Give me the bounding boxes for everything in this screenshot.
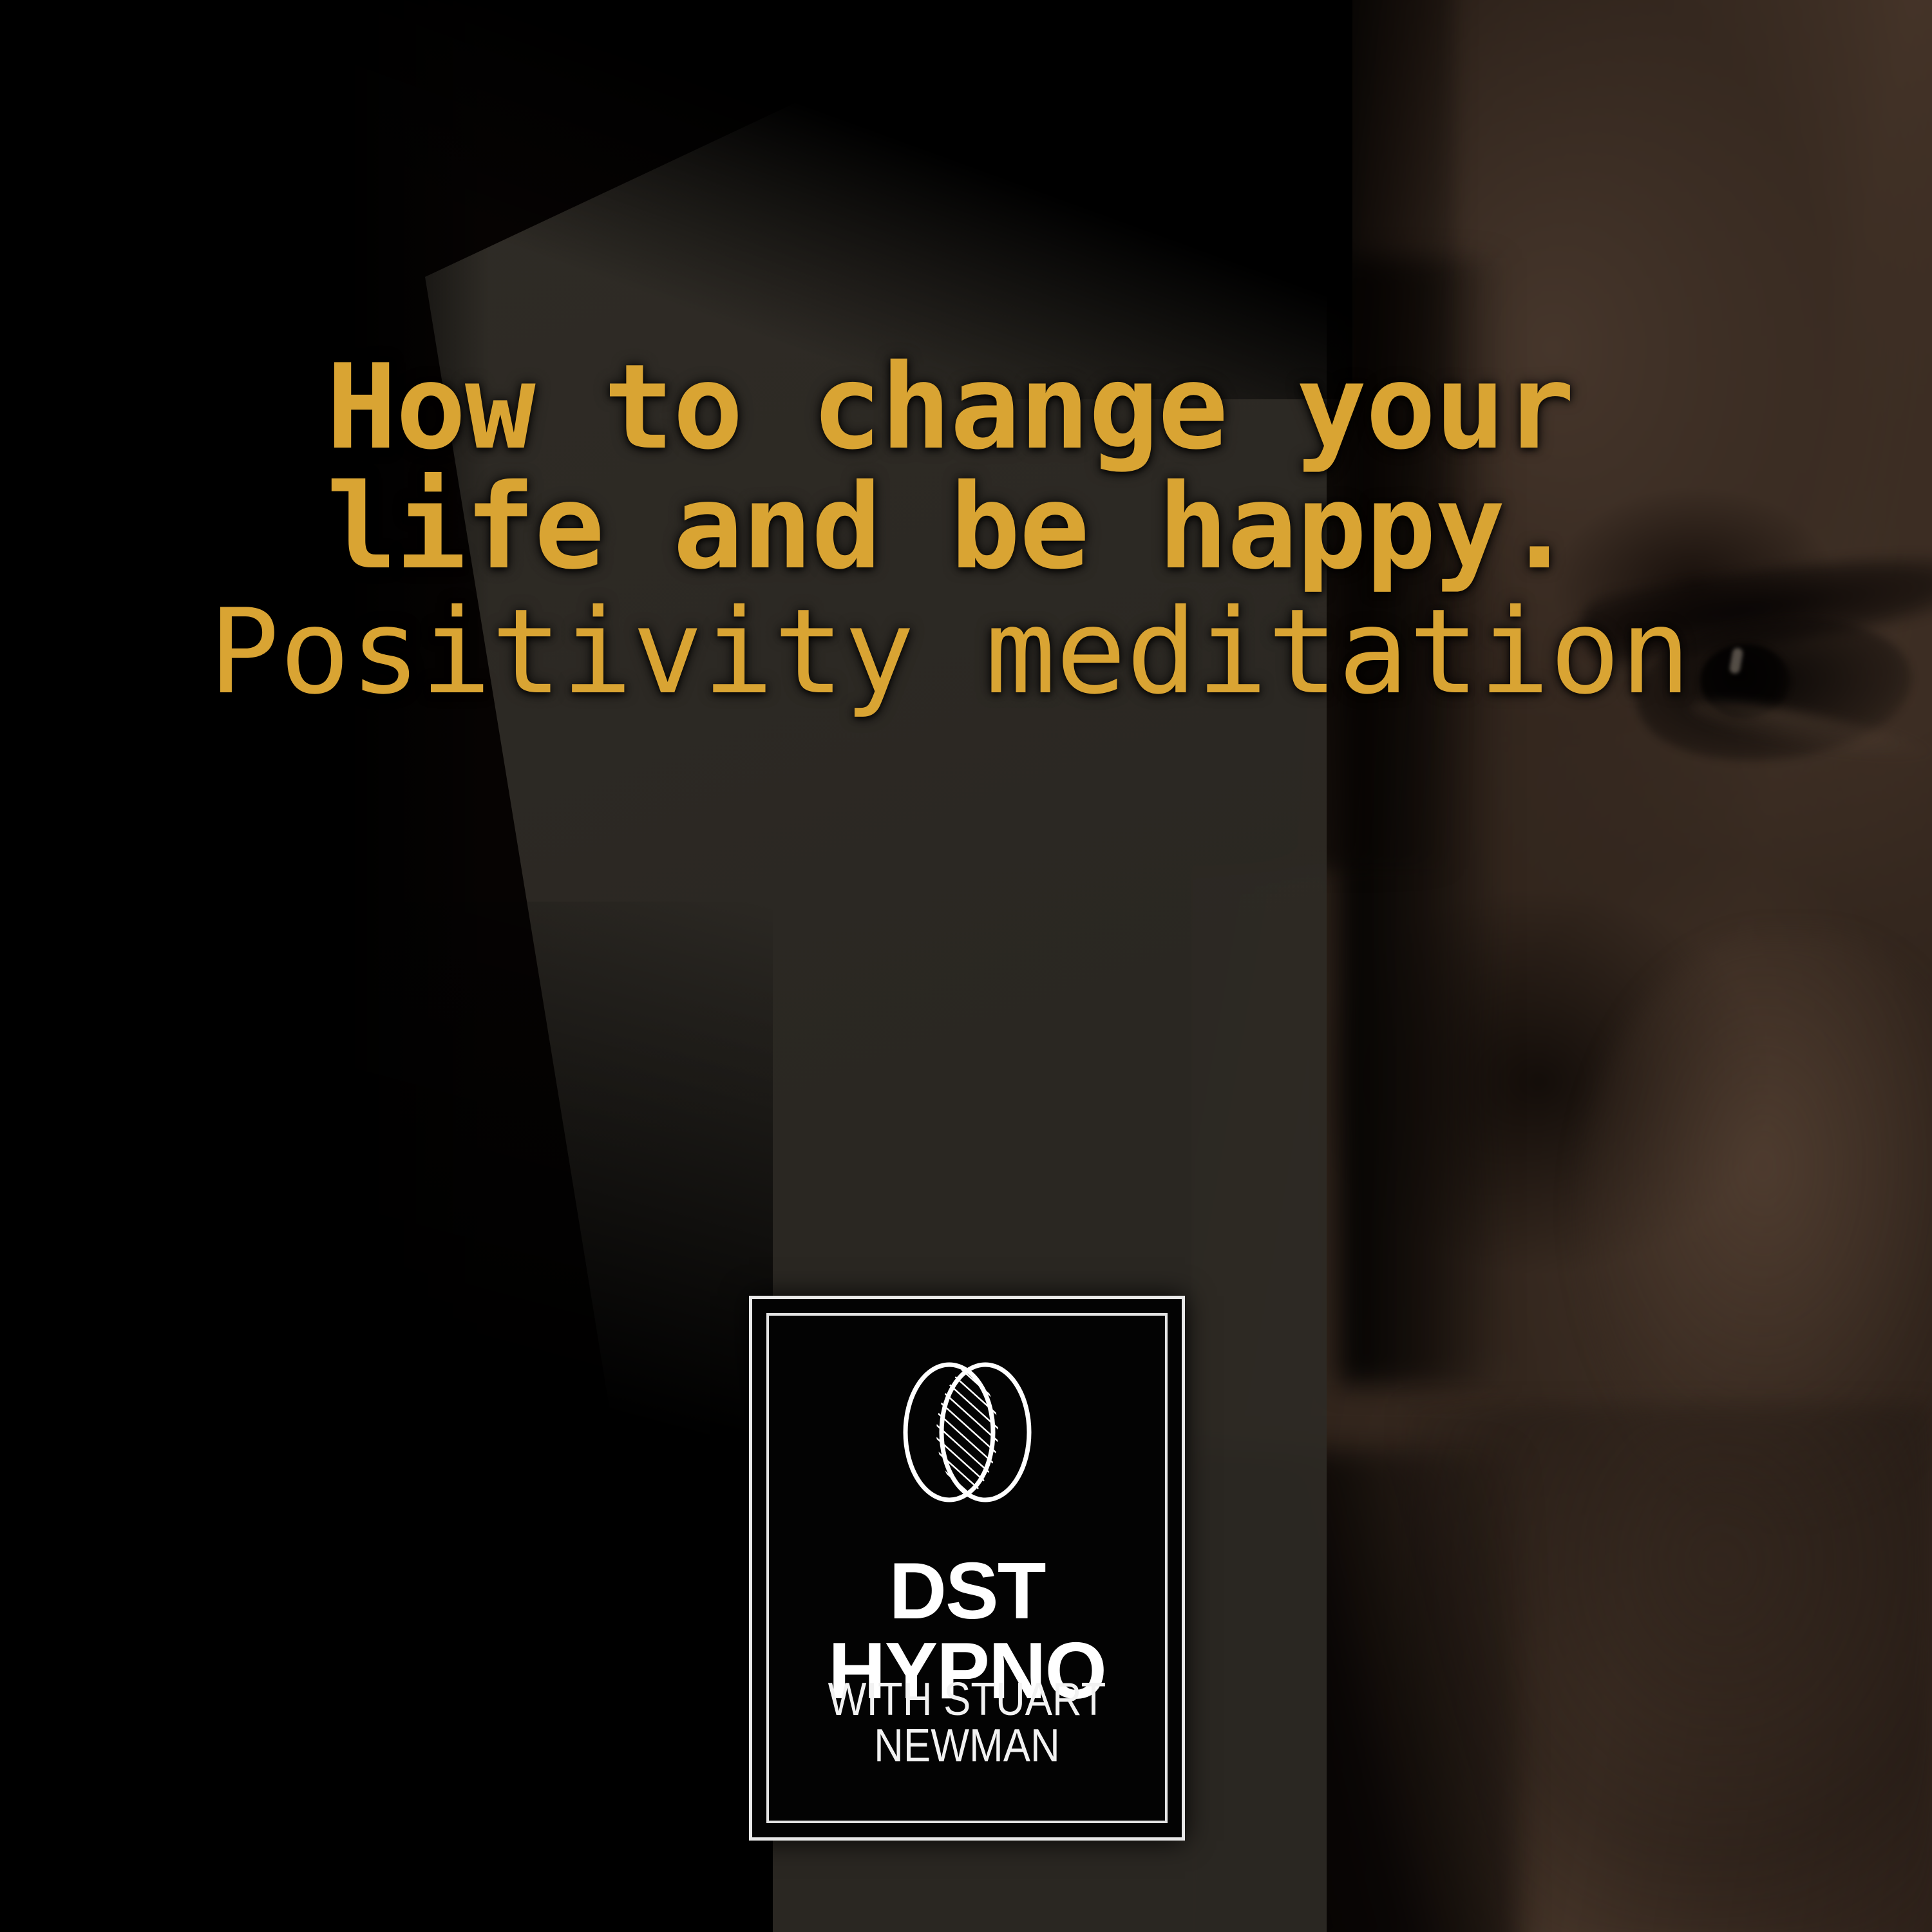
episode-title: How to change your life and be happy. Po… <box>0 348 1900 714</box>
title-line-2: life and be happy. <box>0 468 1900 587</box>
two-overlapping-ellipses-hatched-icon <box>890 1358 1045 1506</box>
brand-logo-card: DST HYPNO WITH STUART NEWMAN <box>749 1296 1185 1841</box>
title-line-1: How to change your <box>0 348 1900 468</box>
episode-artwork: How to change your life and be happy. Po… <box>0 0 1932 1932</box>
left-vignette <box>0 0 489 1932</box>
title-line-3: Positivity meditation <box>0 591 1900 714</box>
logo-subtitle: WITH STUART NEWMAN <box>778 1676 1156 1769</box>
